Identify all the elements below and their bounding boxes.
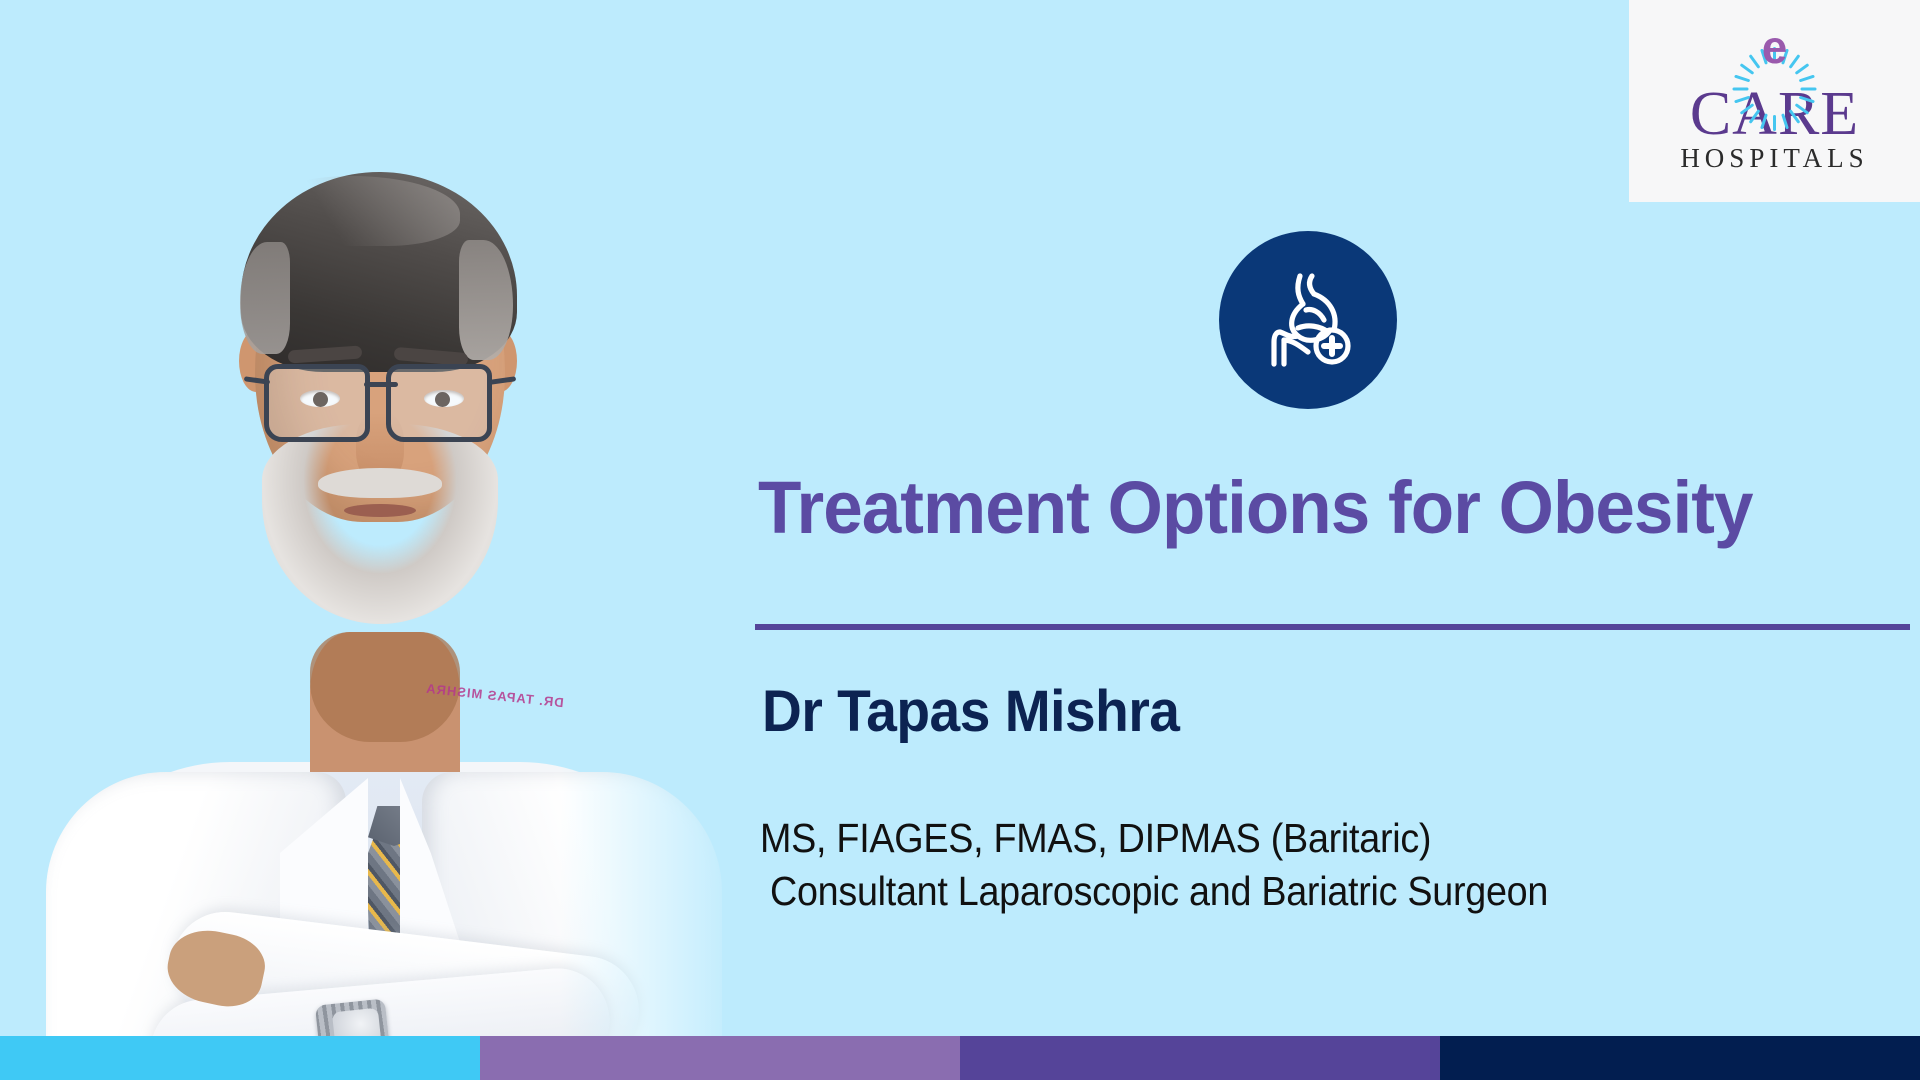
presentation-slide: DR. TAPAS MISHRA — [0, 0, 1920, 1080]
logo-letter-e: e — [1762, 24, 1788, 70]
title-divider — [755, 624, 1910, 630]
lab-coat-lapel-left — [400, 778, 510, 1028]
glasses-bridge — [364, 382, 398, 387]
credentials-line-1: MS, FIAGES, FMAS, DIPMAS (Baritaric) — [760, 812, 1547, 865]
neck-shadow — [310, 632, 460, 742]
moustache — [318, 468, 442, 498]
dress-shirt — [276, 772, 492, 1052]
bar-segment-navy — [1440, 1036, 1920, 1080]
photo-edge-fade — [560, 72, 760, 1052]
hair-grey-left — [459, 240, 513, 360]
glasses-temple-left — [490, 376, 516, 385]
eyebrow-right — [288, 345, 363, 363]
photo-top-fade — [0, 72, 760, 142]
doctor-credentials: MS, FIAGES, FMAS, DIPMAS (Baritaric) Con… — [760, 812, 1616, 919]
eyeglasses — [266, 364, 492, 438]
care-hospitals-logo: e CARE HOSPITALS — [1629, 0, 1920, 202]
striped-tie — [366, 820, 424, 1052]
doctor-portrait: DR. TAPAS MISHRA — [0, 72, 760, 1052]
ear-right — [239, 330, 273, 392]
tie-knot — [368, 806, 420, 846]
eyebrow-left — [394, 347, 469, 366]
stomach-line-art — [1254, 266, 1362, 374]
neck — [310, 632, 460, 832]
lens-right — [264, 364, 370, 442]
sunburst-e-icon: e — [1732, 6, 1818, 88]
lab-coat-right-panel — [46, 772, 346, 1052]
bar-segment-deep-purple — [960, 1036, 1440, 1080]
hair — [241, 172, 517, 372]
lab-coat-left-panel — [422, 772, 722, 1052]
hand — [162, 923, 271, 1013]
bar-segment-cyan — [0, 1036, 480, 1080]
lens-left — [386, 364, 492, 442]
forearm-upper — [165, 906, 645, 1052]
hair-highlight — [260, 176, 460, 246]
ear-left — [483, 330, 517, 392]
bariatric-stomach-icon — [1219, 231, 1397, 409]
page-title: Treatment Options for Obesity — [758, 470, 1862, 547]
hair-grey-right — [240, 242, 290, 354]
credentials-line-2: Consultant Laparoscopic and Bariatric Su… — [770, 865, 1548, 918]
pupil-right — [313, 392, 328, 407]
eye-left — [424, 390, 464, 407]
mouth — [344, 504, 416, 517]
doctor-name: Dr Tapas Mishra — [762, 682, 1179, 742]
bar-segment-light-purple — [480, 1036, 960, 1080]
nose — [356, 412, 404, 484]
pupil-left — [435, 392, 450, 407]
doctor-figure: DR. TAPAS MISHRA — [0, 72, 760, 1052]
bottom-color-bar — [0, 1036, 1920, 1080]
logo-wordmark-hospitals: HOSPITALS — [1680, 145, 1868, 172]
lab-coat-lapel-right — [258, 778, 368, 1028]
coat-name-embroidery: DR. TAPAS MISHRA — [425, 681, 565, 710]
beard — [262, 424, 498, 624]
lab-coat-body — [50, 762, 700, 1052]
face — [255, 192, 505, 522]
eye-right — [300, 390, 340, 407]
glasses-temple-right — [244, 376, 270, 385]
